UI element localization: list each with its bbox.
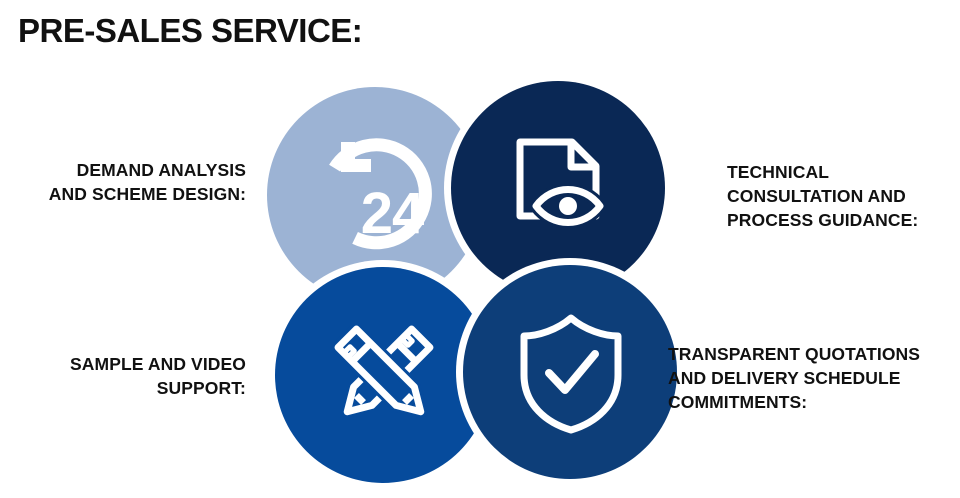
label-transparent-quotations: TRANSPARENT QUOTATIONS AND DELIVERY SCHE… — [668, 342, 960, 414]
circle-transparent-quotations[interactable] — [463, 265, 677, 479]
label-demand-analysis: DEMAND ANALYSIS AND SCHEME DESIGN: — [0, 158, 246, 206]
label-sample-video-support: SAMPLE AND VIDEO SUPPORT: — [0, 352, 246, 400]
four-circle-diagram: 24 — [0, 0, 960, 498]
label-technical-consultation: TECHNICAL CONSULTATION AND PROCESS GUIDA… — [727, 160, 957, 232]
svg-text:24: 24 — [361, 181, 424, 246]
